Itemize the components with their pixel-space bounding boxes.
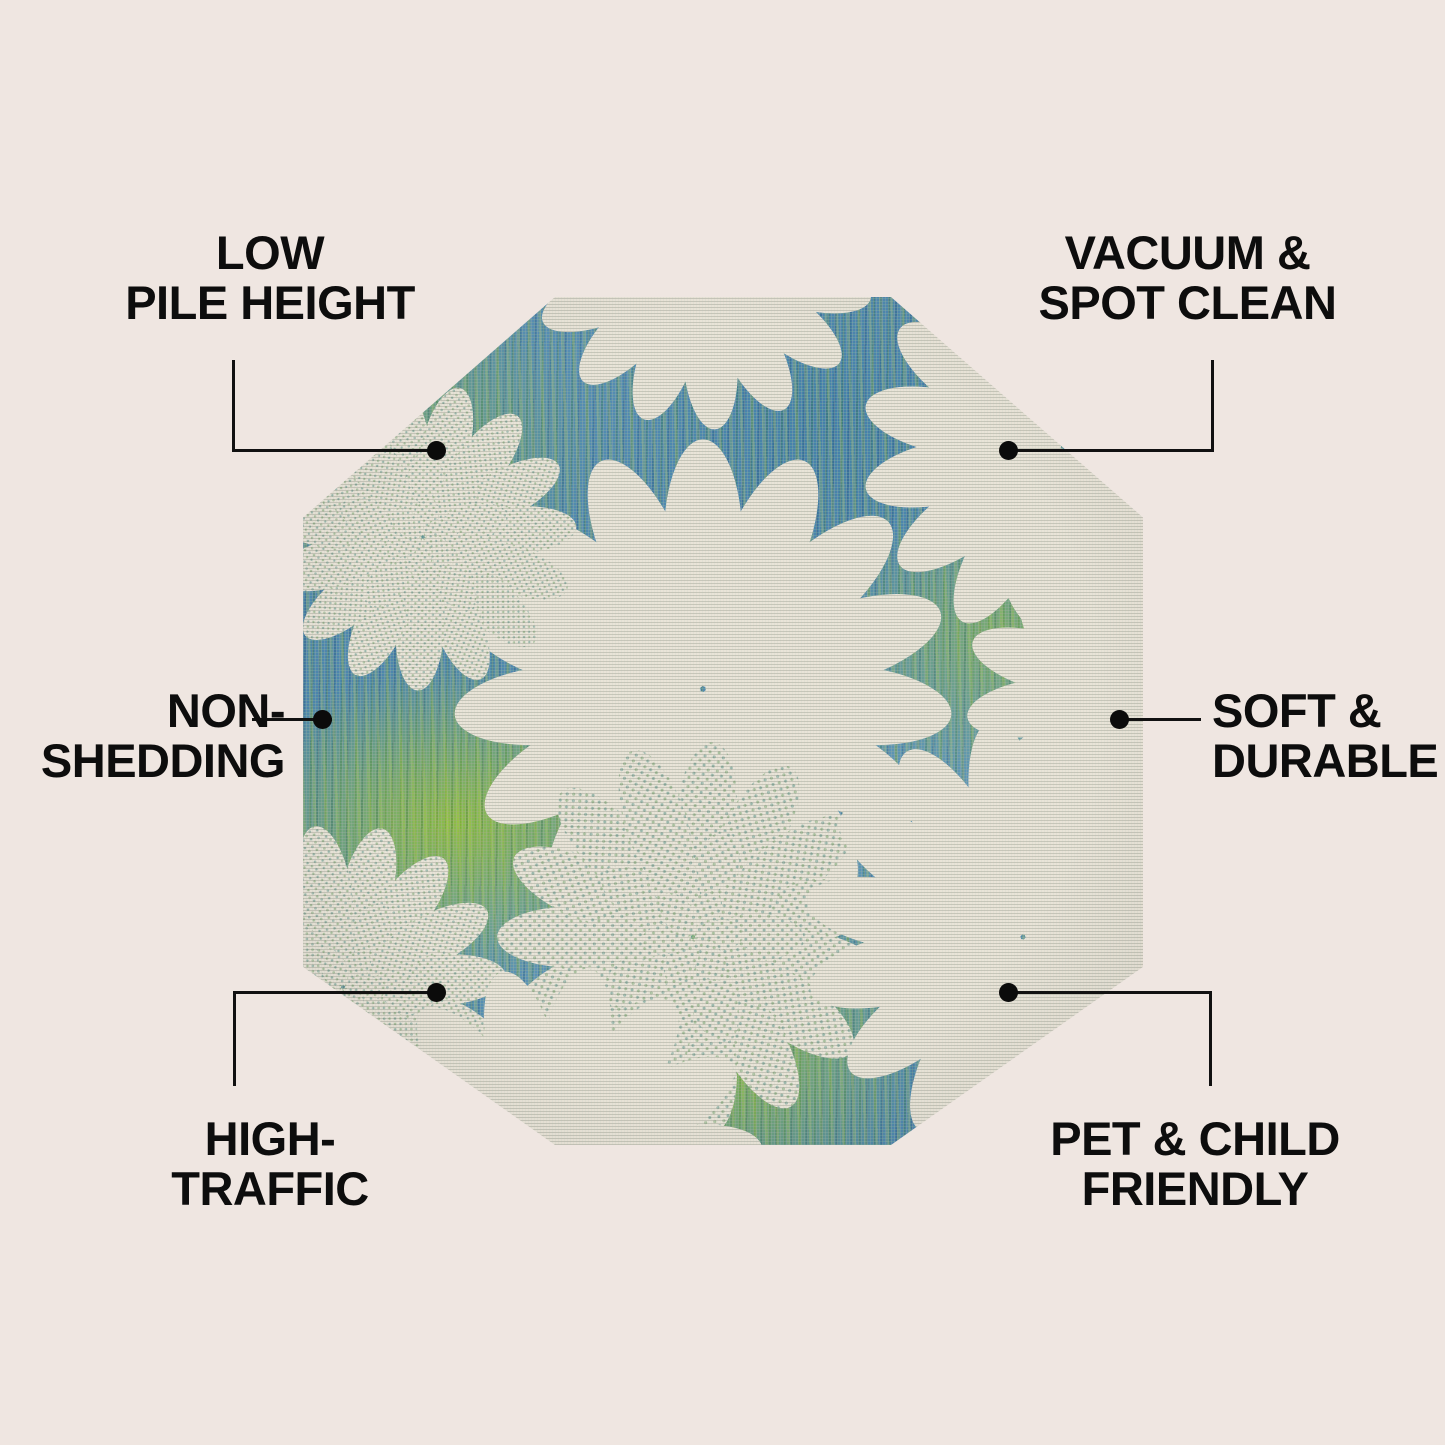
leader-line-vacuum-spot-clean-horizontal	[1008, 449, 1214, 452]
callout-label-high-traffic: HIGH- TRAFFIC	[100, 1114, 440, 1214]
infographic-canvas: LOW PILE HEIGHT VACUUM & SPOT CLEAN NON-…	[0, 0, 1445, 1445]
leader-line-high-traffic-vertical	[233, 991, 236, 1086]
product-rug-image	[303, 297, 1143, 1145]
leader-line-soft-durable	[1118, 718, 1201, 721]
leader-line-pet-child-friendly-horizontal	[1008, 991, 1212, 994]
callout-label-soft-durable: SOFT & DURABLE	[1212, 686, 1442, 786]
callout-label-pet-child-friendly: PET & CHILD FRIENDLY	[1015, 1114, 1375, 1214]
callout-label-low-pile-height: LOW PILE HEIGHT	[90, 228, 450, 328]
callout-dot-low-pile-height	[427, 441, 446, 460]
callout-dot-vacuum-spot-clean	[999, 441, 1018, 460]
leader-line-vacuum-spot-clean-vertical	[1211, 360, 1214, 452]
callout-label-non-shedding: NON- SHEDDING	[10, 686, 285, 786]
rug-edge-shading	[303, 297, 1143, 1145]
callout-dot-non-shedding	[313, 710, 332, 729]
leader-line-pet-child-friendly-vertical	[1209, 991, 1212, 1086]
callout-dot-soft-durable	[1110, 710, 1129, 729]
callout-dot-pet-child-friendly	[999, 983, 1018, 1002]
leader-line-high-traffic-horizontal	[233, 991, 438, 994]
leader-line-low-pile-height-horizontal	[232, 449, 438, 452]
leader-line-low-pile-height-vertical	[232, 360, 235, 452]
callout-label-vacuum-spot-clean: VACUUM & SPOT CLEAN	[1000, 228, 1375, 328]
callout-dot-high-traffic	[427, 983, 446, 1002]
